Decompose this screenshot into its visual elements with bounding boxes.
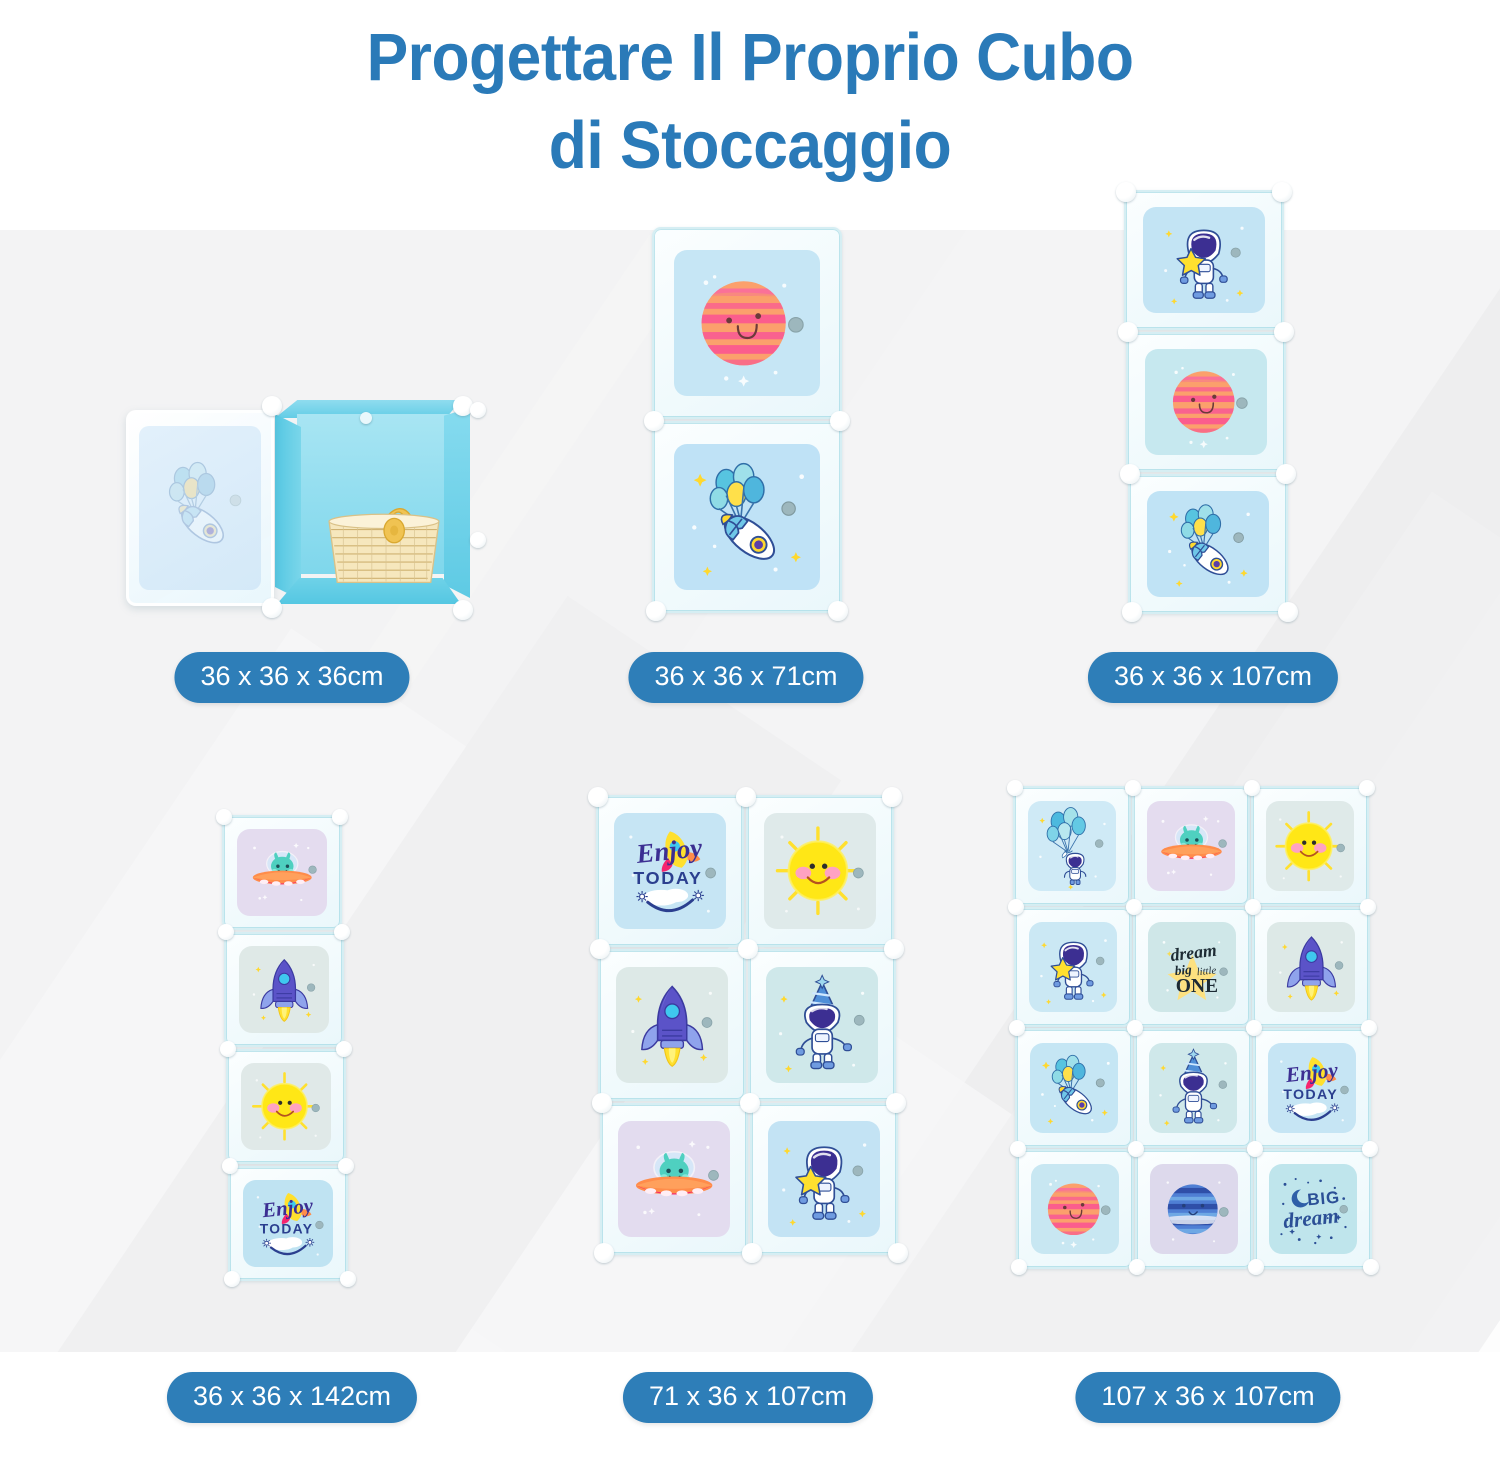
motif-enjoy-today	[243, 1180, 334, 1267]
size-badge-cube-6: 107 x 36 x 107cm	[1075, 1372, 1340, 1423]
motif-rocket-balloons	[1147, 491, 1269, 597]
motif-ufo-alien	[237, 829, 328, 916]
motif-rocket-purple	[1267, 922, 1356, 1013]
motif-big-dream	[1269, 1164, 1358, 1255]
motif-astronaut-star	[1029, 922, 1118, 1013]
cube-panel[interactable]	[1126, 332, 1286, 472]
motif-enjoy-today	[614, 813, 726, 928]
cube-panel[interactable]	[750, 1103, 898, 1255]
motif-astronaut-star	[1143, 207, 1265, 313]
motif-planet-orange	[674, 250, 819, 397]
configuration-cube-5	[596, 795, 896, 1260]
cube-panel[interactable]	[598, 949, 746, 1101]
cube-panel[interactable]	[1134, 1028, 1252, 1148]
motif-rocket-purple	[239, 946, 330, 1033]
cube-panel[interactable]	[1254, 1149, 1372, 1269]
cube-panel[interactable]	[222, 815, 342, 930]
size-badge-cube-1: 36 x 36 x 36cm	[174, 652, 409, 703]
cube-panel[interactable]	[1132, 786, 1250, 906]
size-badge-cube-3: 36 x 36 x 107cm	[1088, 652, 1338, 703]
motif-planet-orange	[1031, 1164, 1120, 1255]
motif-rocket-balloons	[674, 444, 819, 591]
cube-door-open[interactable]	[126, 410, 274, 606]
cube-panel[interactable]	[652, 421, 842, 613]
cube-panel[interactable]	[652, 227, 842, 419]
motif-planet-blue	[1150, 1164, 1239, 1255]
motif-sun-smile	[764, 813, 876, 928]
size-badge-cube-4: 36 x 36 x 142cm	[167, 1372, 417, 1423]
cube-panel[interactable]	[596, 795, 744, 947]
motif-astronaut-star	[768, 1121, 880, 1236]
cube-panel[interactable]	[1135, 1149, 1253, 1269]
configuration-cube-4	[222, 815, 350, 1285]
cube-panel[interactable]	[1252, 907, 1370, 1027]
size-badge-cube-2: 36 x 36 x 71cm	[628, 652, 863, 703]
motif-sun-smile	[1266, 801, 1355, 892]
cube-panel[interactable]	[1251, 786, 1369, 906]
motif-astronaut-balloons	[1028, 801, 1117, 892]
cube-panel[interactable]	[748, 949, 896, 1101]
cube-panel[interactable]	[228, 1166, 348, 1281]
motif-rocket-purple	[616, 967, 728, 1082]
page-title: Progettare Il Proprio Cubo di Stoccaggio	[53, 14, 1448, 190]
cube-panel[interactable]	[1253, 1028, 1371, 1148]
cube-panel[interactable]	[1133, 907, 1251, 1027]
page-title-line-1: Progettare Il Proprio Cubo	[53, 14, 1448, 102]
motif-dream-big-little-one	[1148, 922, 1237, 1013]
cube-panel[interactable]	[1124, 190, 1284, 330]
cube-panel[interactable]	[224, 932, 344, 1047]
page-title-line-2: di Stoccaggio	[53, 102, 1448, 190]
woven-basket	[323, 497, 445, 589]
motif-rocket-balloons	[1030, 1043, 1119, 1134]
cube-panel[interactable]	[226, 1049, 346, 1164]
cube-panel[interactable]	[746, 795, 894, 947]
cube-panel[interactable]	[600, 1103, 748, 1255]
motif-planet-orange	[1145, 349, 1267, 455]
configuration-cube-3	[1122, 190, 1290, 620]
motif-ufo-alien	[618, 1121, 730, 1236]
motif-astronaut-party-hat	[1149, 1043, 1238, 1134]
motif-sun-smile	[241, 1063, 332, 1150]
motif-rocket-balloons-faded	[139, 426, 261, 589]
cube-panel[interactable]	[1014, 907, 1132, 1027]
motif-ufo-alien	[1147, 801, 1236, 892]
configuration-cube-1	[118, 392, 488, 627]
cube-panel[interactable]	[1016, 1149, 1134, 1269]
configuration-cube-6	[1013, 786, 1369, 1264]
cube-panel[interactable]	[1128, 474, 1288, 614]
cube-panel[interactable]	[1015, 1028, 1133, 1148]
motif-enjoy-today	[1268, 1043, 1357, 1134]
cube-panel[interactable]	[1013, 786, 1131, 906]
size-badge-cube-5: 71 x 36 x 107cm	[623, 1372, 873, 1423]
motif-astronaut-party-hat	[766, 967, 878, 1082]
configuration-cube-2	[648, 225, 846, 617]
